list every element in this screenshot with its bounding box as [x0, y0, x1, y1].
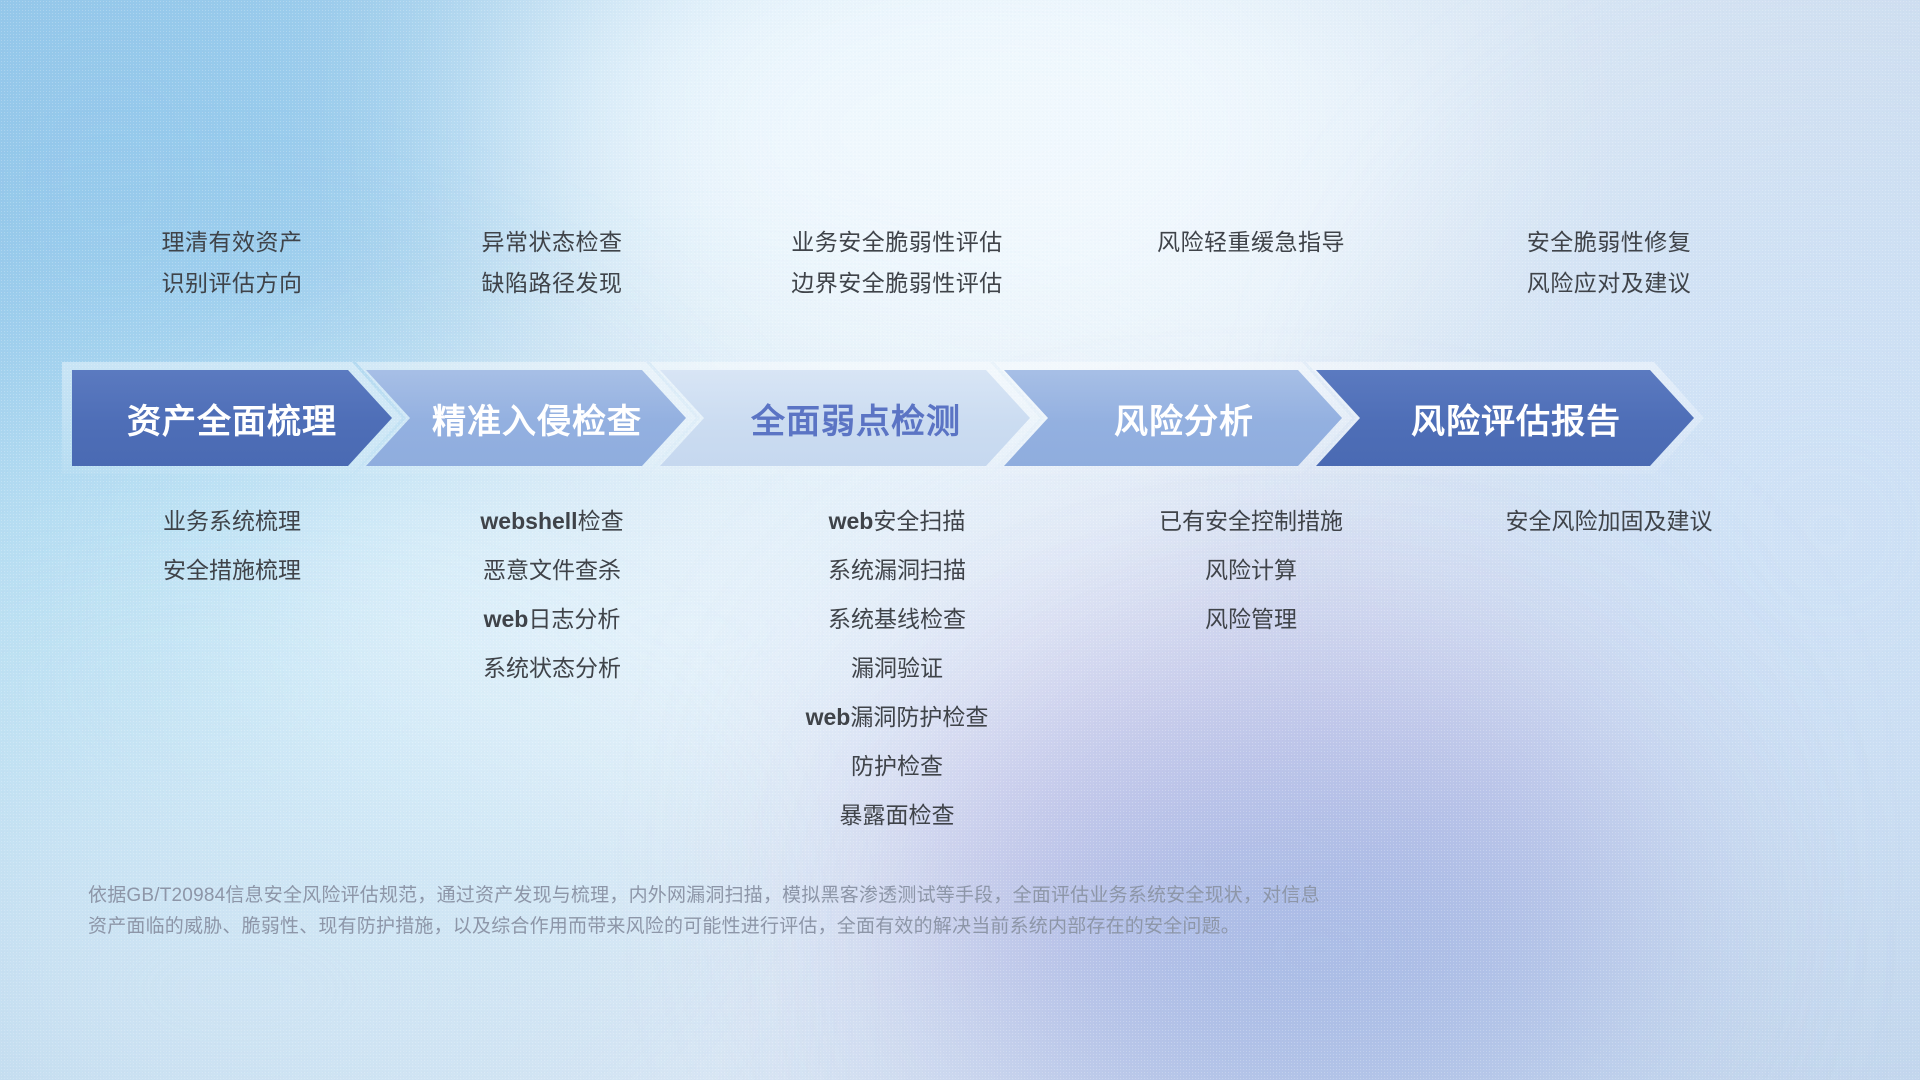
- list-item-text: 检查: [578, 508, 624, 534]
- arrow-label: 风险分析: [1092, 394, 1254, 443]
- process-arrow-risk-analysis[interactable]: 风险分析: [1004, 370, 1342, 466]
- infographic-canvas: 理清有效资产识别评估方向异常状态检查缺陷路径发现业务安全脆弱性评估边界安全脆弱性…: [0, 0, 1920, 1080]
- stage-items-risk-analysis: 已有安全控制措施风险计算风险管理: [1082, 497, 1420, 644]
- list-item: 风险管理: [1082, 595, 1420, 644]
- stage-top-notes-asset-inventory: 理清有效资产识别评估方向: [72, 222, 392, 304]
- list-item: 安全措施梳理: [72, 546, 392, 595]
- list-item-text: 风险管理: [1205, 606, 1297, 632]
- stage-top-notes-row: 理清有效资产识别评估方向异常状态检查缺陷路径发现业务安全脆弱性评估边界安全脆弱性…: [72, 222, 1848, 304]
- arrow-label: 资产全面梳理: [127, 394, 337, 443]
- arrow-label: 精准入侵检查: [410, 394, 642, 443]
- footer-line: 资产面临的威胁、脆弱性、现有防护措施，以及综合作用而带来风险的可能性进行评估，全…: [88, 911, 1568, 942]
- list-item-text: 业务系统梳理: [163, 508, 301, 534]
- list-item: 漏洞验证: [712, 644, 1082, 693]
- list-item-text: 日志分析: [528, 606, 620, 632]
- list-item-text: 安全措施梳理: [163, 557, 301, 583]
- top-note: 异常状态检查: [392, 222, 712, 263]
- process-arrow-weakness-detection[interactable]: 全面弱点检测: [660, 370, 1030, 466]
- list-item: 防护检查: [712, 742, 1082, 791]
- footer-description: 依据GB/T20984信息安全风险评估规范，通过资产发现与梳理，内外网漏洞扫描，…: [88, 880, 1568, 942]
- stage-items-intrusion-check: webshell检查恶意文件查杀web日志分析系统状态分析: [392, 497, 712, 693]
- list-item-text: 系统漏洞扫描: [828, 557, 966, 583]
- list-item-emphasis: webshell: [480, 508, 577, 534]
- list-item-text: 恶意文件查杀: [483, 557, 621, 583]
- stage-items-weakness-detection: web安全扫描系统漏洞扫描系统基线检查漏洞验证web漏洞防护检查防护检查暴露面检…: [712, 497, 1082, 840]
- stage-item-lists-row: 业务系统梳理安全措施梳理webshell检查恶意文件查杀web日志分析系统状态分…: [72, 497, 1848, 840]
- top-note: 风险应对及建议: [1420, 263, 1798, 304]
- list-item: 风险计算: [1082, 546, 1420, 595]
- list-item-emphasis: web: [806, 704, 851, 730]
- top-note: 边界安全脆弱性评估: [712, 263, 1082, 304]
- process-arrow-band: 资产全面梳理精准入侵检查全面弱点检测风险分析风险评估报告: [72, 370, 1848, 466]
- top-note: 安全脆弱性修复: [1420, 222, 1798, 263]
- list-item: 已有安全控制措施: [1082, 497, 1420, 546]
- stage-items-asset-inventory: 业务系统梳理安全措施梳理: [72, 497, 392, 595]
- stage-top-notes-weakness-detection: 业务安全脆弱性评估边界安全脆弱性评估: [712, 222, 1082, 304]
- process-arrow-risk-report[interactable]: 风险评估报告: [1316, 370, 1694, 466]
- top-note: 风险轻重缓急指导: [1082, 222, 1420, 263]
- list-item: web安全扫描: [712, 497, 1082, 546]
- arrow-label: 风险评估报告: [1389, 394, 1621, 443]
- list-item: web漏洞防护检查: [712, 693, 1082, 742]
- list-item: 业务系统梳理: [72, 497, 392, 546]
- list-item: 系统漏洞扫描: [712, 546, 1082, 595]
- list-item-text: 漏洞验证: [851, 655, 943, 681]
- list-item-text: 已有安全控制措施: [1159, 508, 1343, 534]
- stage-items-risk-report: 安全风险加固及建议: [1420, 497, 1798, 546]
- arrow-label: 全面弱点检测: [729, 394, 961, 443]
- stage-top-notes-risk-report: 安全脆弱性修复风险应对及建议: [1420, 222, 1798, 304]
- list-item: 安全风险加固及建议: [1420, 497, 1798, 546]
- list-item: 系统状态分析: [392, 644, 712, 693]
- list-item: web日志分析: [392, 595, 712, 644]
- list-item-text: 安全扫描: [873, 508, 965, 534]
- stage-top-notes-risk-analysis: 风险轻重缓急指导: [1082, 222, 1420, 304]
- list-item-text: 风险计算: [1205, 557, 1297, 583]
- infographic-content: 理清有效资产识别评估方向异常状态检查缺陷路径发现业务安全脆弱性评估边界安全脆弱性…: [0, 0, 1920, 1080]
- list-item-emphasis: web: [829, 508, 874, 534]
- list-item-text: 系统基线检查: [828, 606, 966, 632]
- list-item-text: 暴露面检查: [840, 802, 955, 828]
- stage-top-notes-intrusion-check: 异常状态检查缺陷路径发现: [392, 222, 712, 304]
- list-item-text: 防护检查: [851, 753, 943, 779]
- footer-line: 依据GB/T20984信息安全风险评估规范，通过资产发现与梳理，内外网漏洞扫描，…: [88, 880, 1568, 911]
- list-item-text: 系统状态分析: [483, 655, 621, 681]
- top-note: 理清有效资产: [72, 222, 392, 263]
- top-note: 缺陷路径发现: [392, 263, 712, 304]
- process-arrow-intrusion-check[interactable]: 精准入侵检查: [366, 370, 686, 466]
- top-note: 识别评估方向: [72, 263, 392, 304]
- list-item: 暴露面检查: [712, 791, 1082, 840]
- list-item: 系统基线检查: [712, 595, 1082, 644]
- list-item: 恶意文件查杀: [392, 546, 712, 595]
- list-item-text: 安全风险加固及建议: [1506, 508, 1713, 534]
- list-item-text: 漏洞防护检查: [850, 704, 988, 730]
- process-arrow-asset-inventory[interactable]: 资产全面梳理: [72, 370, 392, 466]
- list-item: webshell检查: [392, 497, 712, 546]
- top-note: 业务安全脆弱性评估: [712, 222, 1082, 263]
- list-item-emphasis: web: [484, 606, 529, 632]
